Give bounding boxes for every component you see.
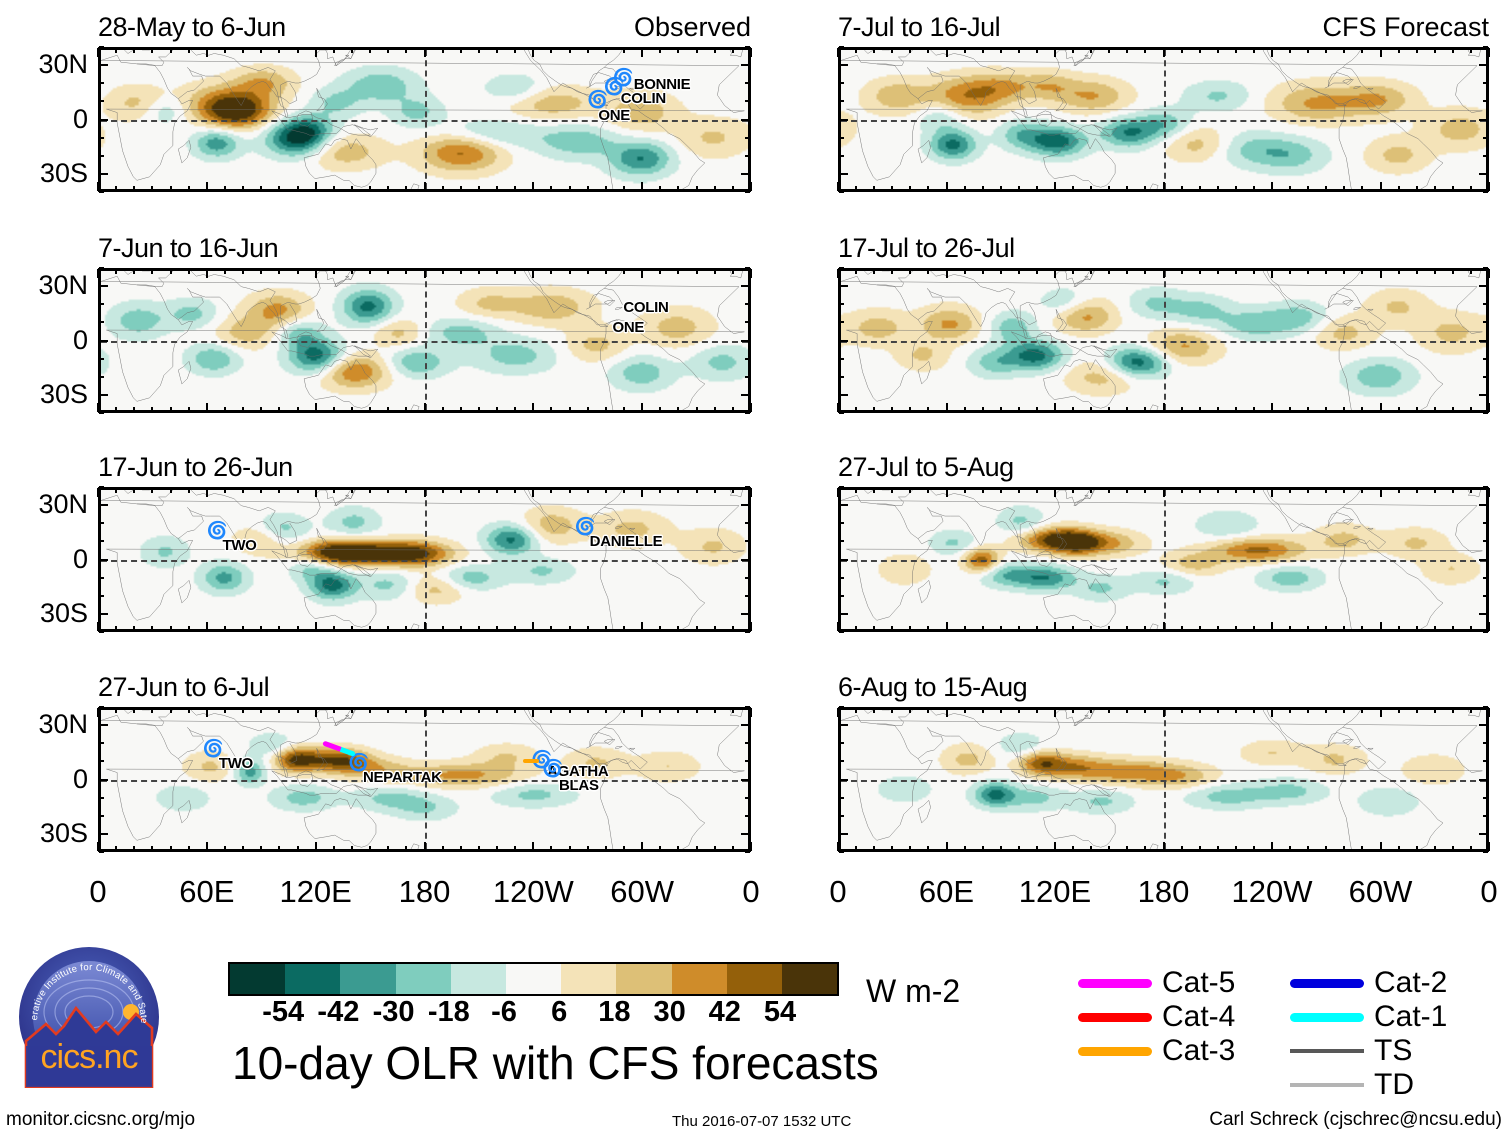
x-tick: [1307, 407, 1309, 412]
y-tick: [1479, 285, 1488, 287]
olr-map: [838, 268, 1489, 413]
y-tick: [1483, 100, 1488, 102]
x-tick: [1380, 488, 1382, 497]
x-tick: [442, 269, 444, 274]
x-tick: [260, 48, 262, 53]
x-tick: [982, 407, 984, 412]
y-tick: [745, 815, 750, 817]
x-tick: [242, 626, 244, 631]
x-tick: [1416, 708, 1418, 713]
x-tick: [1271, 48, 1273, 57]
x-tick: [1126, 269, 1128, 274]
y-tick: [99, 46, 104, 48]
x-tick: [351, 708, 353, 713]
x-tick: [424, 269, 426, 278]
x-tick: [982, 269, 984, 274]
x-tick: [333, 269, 335, 274]
x-tick: [405, 488, 407, 493]
x-tick: [1380, 622, 1382, 631]
x-tick: [133, 48, 135, 53]
panel-title: 17-Jul to 26-Jul: [838, 235, 1015, 262]
x-tick: [623, 407, 625, 412]
x-tick: [659, 48, 661, 53]
x-tick: [478, 708, 480, 713]
x-tick: [1307, 846, 1309, 851]
x-tick: [1325, 407, 1327, 412]
x-tick: [1380, 708, 1382, 717]
x-tick: [224, 708, 226, 713]
x-tick: [97, 48, 99, 57]
x-tick: [242, 407, 244, 412]
x-tick: [369, 407, 371, 412]
y-tick: [99, 412, 104, 414]
x-tick: [1054, 488, 1056, 497]
y-tick: [1483, 851, 1488, 853]
x-tick: [641, 269, 643, 278]
x-tick: [1235, 48, 1237, 53]
x-tick: [224, 186, 226, 191]
x-tick: [1452, 626, 1454, 631]
x-tick: [605, 708, 607, 713]
legend-entry-ts: TS: [1290, 1036, 1412, 1066]
x-tick: [587, 407, 589, 412]
x-tick: [550, 846, 552, 851]
x-tick: [351, 186, 353, 191]
y-tick: [839, 321, 844, 323]
cicsnc-logo[interactable]: Cooperative Institute for Climate and Sa…: [18, 946, 160, 1088]
x-tick: [1090, 269, 1092, 274]
x-tick: [224, 407, 226, 412]
legend-label: Cat-4: [1162, 1002, 1235, 1032]
x-tick: [115, 488, 117, 493]
x-tick: [278, 186, 280, 191]
x-tick: [242, 488, 244, 493]
x-tick: [1416, 407, 1418, 412]
y-tick: [1483, 137, 1488, 139]
x-tick: [1108, 846, 1110, 851]
olr-map: COLINONE: [98, 268, 751, 413]
storm-label: ONE: [613, 320, 645, 335]
x-tick: [1054, 708, 1056, 717]
y-tick: [745, 577, 750, 579]
x-tick: [278, 626, 280, 631]
x-tick: [1054, 269, 1056, 278]
x-tick: [1163, 708, 1165, 717]
x-tick: [587, 488, 589, 493]
x-tick: [1452, 407, 1454, 412]
x-tick: [442, 488, 444, 493]
x-tick: [1361, 407, 1363, 412]
y-tick: [741, 340, 750, 342]
x-tick: [1488, 842, 1490, 851]
y-tick: [839, 64, 848, 66]
x-tick: [1018, 186, 1020, 191]
x-tick: [1108, 407, 1110, 412]
x-tick: [278, 846, 280, 851]
x-tick: [260, 269, 262, 274]
x-tick: [1398, 626, 1400, 631]
x-tick: [133, 407, 135, 412]
x-tick: [1470, 48, 1472, 53]
x-tick: [333, 48, 335, 53]
y-tick: [839, 82, 844, 84]
x-tick: [1144, 488, 1146, 493]
x-tick: [927, 846, 929, 851]
colorbar-swatch-1: [285, 964, 340, 994]
x-tick: [946, 48, 948, 57]
y-tick: [839, 137, 844, 139]
x-tick: [97, 842, 99, 851]
x-tick: [659, 626, 661, 631]
x-tick: [1217, 708, 1219, 713]
x-tick: [750, 403, 752, 412]
x-tick: [514, 269, 516, 274]
x-tick: [333, 846, 335, 851]
x-tick: [1343, 407, 1345, 412]
y-tick: [99, 119, 108, 121]
y-tick: [745, 540, 750, 542]
x-tick: [677, 269, 679, 274]
x-tick: [714, 269, 716, 274]
y-tick: [741, 613, 750, 615]
x-tick: [569, 269, 571, 274]
x-tick: [351, 488, 353, 493]
x-tick: [151, 186, 153, 191]
x-tick: [605, 488, 607, 493]
x-tick: [97, 488, 99, 497]
x-tick: [351, 626, 353, 631]
x-tick: [1235, 488, 1237, 493]
x-tick: [1126, 407, 1128, 412]
y-tick: [839, 155, 844, 157]
panel-title: 27-Jun to 6-Jul: [98, 674, 269, 701]
x-tick: [1434, 186, 1436, 191]
x-tick: [587, 846, 589, 851]
x-tick: [696, 488, 698, 493]
y-tick: [741, 119, 750, 121]
x-tick: [569, 186, 571, 191]
x-tick: [837, 403, 839, 412]
y-tick: [1483, 412, 1488, 414]
y-tick: [839, 851, 844, 853]
legend-entry-cat-3: Cat-3: [1078, 1036, 1235, 1066]
colorbar-swatch-7: [616, 964, 671, 994]
x-tick: [1072, 846, 1074, 851]
x-tick: [714, 708, 716, 713]
x-tick: [837, 48, 839, 57]
x-tick: [1307, 708, 1309, 713]
x-tick: [1452, 846, 1454, 851]
x-tick: [1416, 48, 1418, 53]
storm-label: ONE: [598, 108, 630, 123]
x-tick: [351, 269, 353, 274]
x-tick: [1199, 48, 1201, 53]
x-tick: [1072, 48, 1074, 53]
dateline: [1164, 50, 1166, 189]
y-tick: [99, 191, 104, 193]
x-tick: [351, 846, 353, 851]
x-tick: [224, 626, 226, 631]
x-tick: [696, 48, 698, 53]
legend-line-swatch: [1290, 1049, 1364, 1053]
x-tick: [714, 846, 716, 851]
x-tick: [750, 622, 752, 631]
storm-label: NEPARTAK: [363, 770, 442, 785]
x-tick: [1235, 186, 1237, 191]
colorbar-swatch-5: [506, 964, 561, 994]
x-tick: [677, 626, 679, 631]
x-tick: [1361, 488, 1363, 493]
x-tick: [714, 626, 716, 631]
x-tick: [115, 846, 117, 851]
x-tick: [550, 269, 552, 274]
y-axis-label: 0: [0, 766, 88, 793]
x-tick: [496, 708, 498, 713]
x-tick: [855, 488, 857, 493]
x-tick: [188, 626, 190, 631]
x-tick: [1488, 48, 1490, 57]
y-tick: [745, 82, 750, 84]
y-tick: [1483, 82, 1488, 84]
x-tick: [550, 186, 552, 191]
x-tick: [1398, 407, 1400, 412]
x-tick: [1343, 626, 1345, 631]
x-tick: [315, 622, 317, 631]
x-tick: [1072, 626, 1074, 631]
y-tick: [741, 724, 750, 726]
x-tick: [1000, 708, 1002, 713]
x-tick: [837, 488, 839, 497]
x-axis-label: 0: [1429, 876, 1510, 907]
x-tick: [260, 846, 262, 851]
y-tick: [1483, 486, 1488, 488]
y-tick: [745, 851, 750, 853]
x-tick: [1181, 708, 1183, 713]
y-tick: [99, 82, 104, 84]
y-tick: [99, 504, 108, 506]
x-tick: [1126, 846, 1128, 851]
x-tick: [696, 708, 698, 713]
y-tick: [99, 577, 104, 579]
y-tick: [839, 559, 848, 561]
x-tick: [115, 708, 117, 713]
legend-label: Cat-1: [1374, 1002, 1447, 1032]
y-tick: [839, 631, 844, 633]
x-tick: [496, 846, 498, 851]
x-tick: [387, 186, 389, 191]
y-tick: [839, 742, 844, 744]
x-tick: [1163, 622, 1165, 631]
x-axis-label: 60W: [1321, 876, 1441, 907]
cyclone-track: [523, 759, 539, 763]
x-tick: [873, 626, 875, 631]
x-tick: [1072, 708, 1074, 713]
x-tick: [641, 622, 643, 631]
x-tick: [1343, 186, 1345, 191]
x-tick: [1217, 846, 1219, 851]
panel-title: 17-Jun to 26-Jun: [98, 454, 293, 481]
x-tick: [297, 488, 299, 493]
x-tick: [1488, 403, 1490, 412]
colorbar-swatch-9: [727, 964, 782, 994]
colorbar-swatch-3: [396, 964, 451, 994]
footer-site-link[interactable]: monitor.cicsnc.org/mjo: [6, 1110, 195, 1129]
x-tick: [1380, 182, 1382, 191]
x-tick: [696, 407, 698, 412]
x-tick: [369, 488, 371, 493]
y-tick: [839, 595, 844, 597]
x-tick: [964, 488, 966, 493]
x-tick: [1271, 622, 1273, 631]
x-tick: [1036, 186, 1038, 191]
x-tick: [1253, 626, 1255, 631]
x-tick: [1217, 48, 1219, 53]
x-tick: [1235, 407, 1237, 412]
storm-label: COLIN: [623, 300, 668, 315]
y-tick: [1483, 522, 1488, 524]
x-tick: [1000, 488, 1002, 493]
y-tick: [99, 815, 104, 817]
x-tick: [550, 708, 552, 713]
x-tick: [460, 269, 462, 274]
x-tick: [1343, 708, 1345, 713]
x-tick: [297, 269, 299, 274]
y-tick: [839, 358, 844, 360]
y-tick: [1479, 779, 1488, 781]
legend-entry-cat-2: Cat-2: [1290, 968, 1447, 998]
x-tick: [206, 708, 208, 717]
x-axis-label: 180: [1104, 876, 1224, 907]
x-axis-label: 60E: [887, 876, 1007, 907]
x-tick: [1181, 488, 1183, 493]
x-tick: [891, 626, 893, 631]
x-axis-label: 180: [365, 876, 485, 907]
x-tick: [1090, 708, 1092, 713]
x-tick: [1271, 182, 1273, 191]
footer-author: Carl Schreck (cjschrec@ncsu.edu): [1209, 1110, 1502, 1129]
x-tick: [188, 488, 190, 493]
x-tick: [837, 269, 839, 278]
x-tick: [550, 48, 552, 53]
x-tick: [1380, 842, 1382, 851]
x-tick: [405, 407, 407, 412]
x-tick: [1434, 407, 1436, 412]
y-tick: [1479, 724, 1488, 726]
y-tick: [1483, 46, 1488, 48]
y-tick: [839, 577, 844, 579]
x-tick: [1289, 626, 1291, 631]
x-tick: [1452, 186, 1454, 191]
x-tick: [891, 269, 893, 274]
x-axis-label: 120W: [1212, 876, 1332, 907]
x-tick: [278, 708, 280, 713]
olr-map: 🌀TWO🌀DANIELLE: [98, 487, 751, 632]
y-tick: [745, 797, 750, 799]
x-tick: [1144, 48, 1146, 53]
x-tick: [1361, 269, 1363, 274]
x-tick: [1181, 269, 1183, 274]
x-tick: [133, 708, 135, 713]
y-tick: [99, 155, 104, 157]
x-tick: [1235, 626, 1237, 631]
colorbar-swatch-0: [230, 964, 285, 994]
x-tick: [732, 488, 734, 493]
legend-label: Cat-5: [1162, 968, 1235, 998]
x-tick: [478, 186, 480, 191]
x-tick: [1054, 403, 1056, 412]
x-tick: [946, 488, 948, 497]
x-tick: [1398, 488, 1400, 493]
legend-line-swatch: [1290, 979, 1364, 988]
x-tick: [714, 407, 716, 412]
y-tick: [745, 155, 750, 157]
x-tick: [1199, 186, 1201, 191]
x-tick: [369, 269, 371, 274]
x-tick: [97, 403, 99, 412]
x-tick: [1144, 708, 1146, 713]
y-tick: [99, 540, 104, 542]
x-tick: [532, 48, 534, 57]
y-tick: [99, 742, 104, 744]
x-tick: [1217, 186, 1219, 191]
y-tick: [745, 46, 750, 48]
x-tick: [1470, 269, 1472, 274]
x-tick: [278, 48, 280, 53]
y-tick: [745, 321, 750, 323]
x-tick: [1434, 48, 1436, 53]
x-tick: [424, 48, 426, 57]
y-tick: [839, 760, 844, 762]
x-tick: [170, 269, 172, 274]
x-tick: [1452, 48, 1454, 53]
x-tick: [224, 48, 226, 53]
x-tick: [1470, 407, 1472, 412]
x-tick: [514, 407, 516, 412]
y-tick: [99, 64, 108, 66]
y-tick: [1483, 303, 1488, 305]
x-tick: [569, 846, 571, 851]
x-tick: [424, 182, 426, 191]
x-tick: [927, 407, 929, 412]
y-axis-label: 0: [0, 546, 88, 573]
x-tick: [442, 407, 444, 412]
x-tick: [1380, 269, 1382, 278]
x-tick: [1416, 488, 1418, 493]
x-tick: [837, 842, 839, 851]
x-tick: [460, 488, 462, 493]
x-tick: [1380, 48, 1382, 57]
x-tick: [478, 407, 480, 412]
x-tick: [1217, 626, 1219, 631]
x-tick: [369, 48, 371, 53]
column-header: CFS Forecast: [1322, 14, 1489, 41]
x-tick: [891, 48, 893, 53]
x-tick: [387, 626, 389, 631]
y-tick: [745, 137, 750, 139]
x-axis-label: 120E: [256, 876, 376, 907]
x-tick: [1000, 846, 1002, 851]
x-tick: [1036, 269, 1038, 274]
x-tick: [1126, 626, 1128, 631]
dateline: [425, 271, 427, 410]
x-tick: [873, 407, 875, 412]
x-tick: [1452, 708, 1454, 713]
x-tick: [659, 407, 661, 412]
x-tick: [496, 407, 498, 412]
x-tick: [206, 403, 208, 412]
y-axis-label: 30N: [0, 711, 88, 738]
x-tick: [677, 488, 679, 493]
